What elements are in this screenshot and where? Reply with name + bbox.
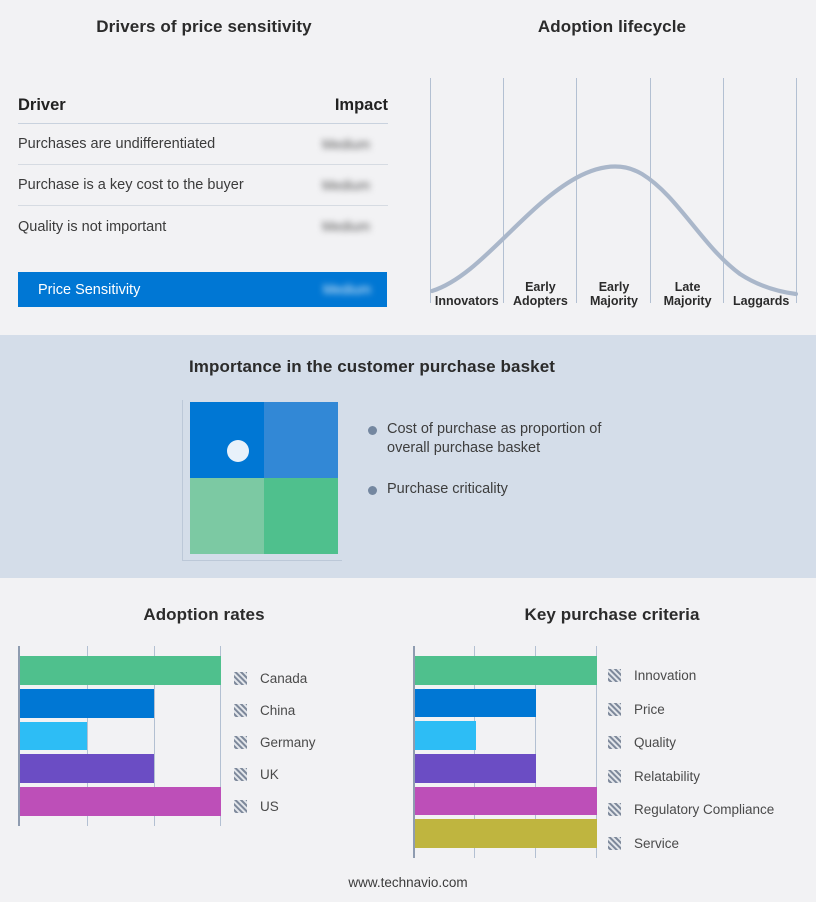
legend-item: Purchase criticality bbox=[368, 480, 668, 499]
adoption-rates-chart-plot bbox=[18, 646, 221, 826]
driver-impact-redacted: Medium bbox=[322, 219, 388, 234]
quadrant-x-axis bbox=[182, 560, 342, 561]
lifecycle-label-laggards: Laggards bbox=[724, 294, 798, 310]
lifecycle-panel-title: Adoption lifecycle bbox=[408, 17, 816, 37]
bar-row bbox=[415, 785, 597, 818]
column-header-impact: Impact bbox=[335, 96, 388, 115]
hatch-swatch-icon bbox=[608, 803, 621, 816]
label-line: Early bbox=[599, 280, 630, 294]
summary-label: Price Sensitivity bbox=[38, 282, 140, 298]
quadrant-bottom-right bbox=[264, 478, 338, 554]
legend-item: Cost of purchase as proportion of overal… bbox=[368, 420, 668, 458]
bullet-icon bbox=[368, 426, 377, 435]
drivers-of-price-sensitivity-panel: Drivers of price sensitivity Driver Impa… bbox=[0, 0, 408, 335]
criteria-bars-group bbox=[415, 654, 597, 850]
hatch-swatch-icon bbox=[234, 800, 247, 813]
legend-item: UK bbox=[234, 758, 394, 790]
drivers-panel-title: Drivers of price sensitivity bbox=[0, 17, 408, 37]
drivers-table: Driver Impact Purchases are undifferenti… bbox=[18, 88, 388, 247]
bar bbox=[415, 721, 476, 750]
legend-label: Cost of purchase as proportion of overal… bbox=[387, 420, 643, 458]
quadrant-position-marker-dot bbox=[227, 440, 249, 462]
legend-item: Regulatory Compliance bbox=[608, 793, 808, 827]
bar bbox=[20, 787, 221, 816]
adoption-rates-legend: CanadaChinaGermanyUKUS bbox=[234, 662, 394, 822]
legend-item: Quality bbox=[608, 726, 808, 760]
lifecycle-segment-labels: Innovators Early Adopters Early Majority… bbox=[430, 270, 798, 310]
adoption-rates-panel: Adoption rates CanadaChinaGermanyUKUS bbox=[0, 578, 408, 902]
lifecycle-chart-plot: Innovators Early Adopters Early Majority… bbox=[430, 78, 798, 308]
legend-label: UK bbox=[260, 767, 279, 782]
quadrant-grid bbox=[190, 402, 338, 554]
table-row: Quality is not important Medium bbox=[18, 206, 388, 247]
hatch-swatch-icon bbox=[608, 770, 621, 783]
driver-name: Purchases are undifferentiated bbox=[18, 136, 215, 152]
bar-row bbox=[20, 785, 221, 818]
driver-name: Purchase is a key cost to the buyer bbox=[18, 177, 244, 193]
key-purchase-criteria-panel: Key purchase criteria InnovationPriceQua… bbox=[408, 578, 816, 902]
key-purchase-criteria-legend: InnovationPriceQualityRelatabilityRegula… bbox=[608, 659, 808, 860]
bar-row bbox=[415, 654, 597, 687]
legend-label: US bbox=[260, 799, 279, 814]
lifecycle-label-innovators: Innovators bbox=[430, 294, 504, 310]
hatch-swatch-icon bbox=[608, 703, 621, 716]
lifecycle-label-early-adopters: Early Adopters bbox=[504, 280, 578, 310]
legend-label: Purchase criticality bbox=[387, 480, 508, 499]
bar bbox=[20, 656, 221, 685]
bar bbox=[415, 689, 536, 718]
bar bbox=[415, 754, 536, 783]
lifecycle-label-early-majority: Early Majority bbox=[577, 280, 651, 310]
label-line: Majority bbox=[664, 294, 712, 308]
quadrant-bottom-left bbox=[190, 478, 264, 554]
hatch-swatch-icon bbox=[608, 837, 621, 850]
table-row: Purchase is a key cost to the buyer Medi… bbox=[18, 165, 388, 206]
label-line: Innovators bbox=[435, 294, 499, 308]
hatch-swatch-icon bbox=[608, 736, 621, 749]
bar bbox=[415, 787, 597, 816]
legend-item: Canada bbox=[234, 662, 394, 694]
bar bbox=[20, 722, 87, 751]
bar bbox=[20, 689, 154, 718]
legend-label: Canada bbox=[260, 671, 307, 686]
legend-label: Regulatory Compliance bbox=[634, 802, 774, 817]
driver-impact-redacted: Medium bbox=[322, 137, 388, 152]
bar-row bbox=[20, 654, 221, 687]
key-purchase-criteria-chart-plot bbox=[413, 646, 597, 858]
label-line: Early bbox=[525, 280, 556, 294]
label-line: Adopters bbox=[513, 294, 568, 308]
label-line: Late bbox=[675, 280, 701, 294]
legend-label: China bbox=[260, 703, 295, 718]
hatch-swatch-icon bbox=[234, 672, 247, 685]
adoption-lifecycle-panel: Adoption lifecycle Innovators Early Adop… bbox=[408, 0, 816, 335]
footer-url: www.technavio.com bbox=[0, 875, 816, 890]
key-purchase-criteria-title: Key purchase criteria bbox=[408, 605, 816, 625]
summary-impact-redacted: Medium bbox=[323, 282, 387, 297]
bar-row bbox=[20, 720, 221, 753]
legend-label: Innovation bbox=[634, 668, 696, 683]
bar-row bbox=[415, 817, 597, 850]
quadrant-matrix-chart bbox=[182, 400, 342, 565]
hatch-swatch-icon bbox=[234, 768, 247, 781]
hatch-swatch-icon bbox=[234, 704, 247, 717]
importance-purchase-basket-panel: Importance in the customer purchase bask… bbox=[0, 335, 816, 578]
legend-item: Service bbox=[608, 827, 808, 861]
legend-item: Price bbox=[608, 693, 808, 727]
legend-label: Quality bbox=[634, 735, 676, 750]
legend-label: Germany bbox=[260, 735, 316, 750]
quadrant-y-axis bbox=[182, 400, 183, 560]
legend-item: Relatability bbox=[608, 760, 808, 794]
legend-label: Service bbox=[634, 836, 679, 851]
label-line: Majority bbox=[590, 294, 638, 308]
bar-row bbox=[20, 752, 221, 785]
table-row: Purchases are undifferentiated Medium bbox=[18, 124, 388, 165]
bar bbox=[20, 754, 154, 783]
adoption-bars-group bbox=[20, 654, 221, 818]
bar bbox=[415, 656, 597, 685]
driver-name: Quality is not important bbox=[18, 219, 166, 235]
label-line: Laggards bbox=[733, 294, 789, 308]
hatch-swatch-icon bbox=[608, 669, 621, 682]
lifecycle-label-late-majority: Late Majority bbox=[651, 280, 725, 310]
column-header-driver: Driver bbox=[18, 96, 66, 115]
bar-row bbox=[415, 752, 597, 785]
legend-item: Innovation bbox=[608, 659, 808, 693]
importance-panel-title: Importance in the customer purchase bask… bbox=[0, 357, 744, 377]
bullet-icon bbox=[368, 486, 377, 495]
legend-item: China bbox=[234, 694, 394, 726]
quadrant-top-right bbox=[264, 402, 338, 478]
legend-label: Relatability bbox=[634, 769, 700, 784]
bar-row bbox=[20, 687, 221, 720]
price-sensitivity-summary-row: Price Sensitivity Medium bbox=[18, 272, 387, 307]
legend-item: Germany bbox=[234, 726, 394, 758]
quadrant-top-left bbox=[190, 402, 264, 478]
adoption-rates-title: Adoption rates bbox=[0, 605, 408, 625]
legend-item: US bbox=[234, 790, 394, 822]
bar-row bbox=[415, 687, 597, 720]
bar bbox=[415, 819, 597, 848]
legend-label: Price bbox=[634, 702, 665, 717]
importance-legend: Cost of purchase as proportion of overal… bbox=[368, 420, 668, 521]
hatch-swatch-icon bbox=[234, 736, 247, 749]
bar-row bbox=[415, 719, 597, 752]
table-header-row: Driver Impact bbox=[18, 88, 388, 124]
driver-impact-redacted: Medium bbox=[322, 178, 388, 193]
